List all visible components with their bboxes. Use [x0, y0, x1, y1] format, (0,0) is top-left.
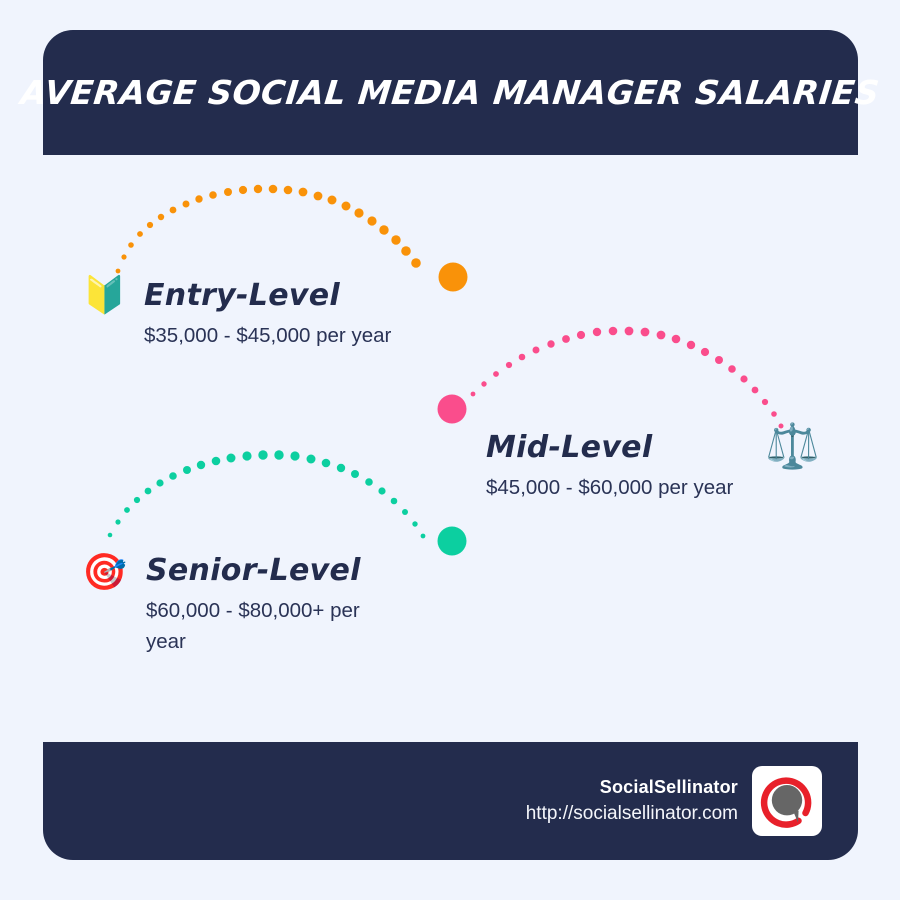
arc-endpoint-senior: [438, 527, 467, 556]
balance-scale-icon: ⚖️: [765, 425, 820, 469]
logo-mark-icon: [758, 772, 816, 830]
footer-bar: SocialSellinator http://socialsellinator…: [43, 742, 858, 860]
footer-text-block: SocialSellinator http://socialsellinator…: [526, 777, 738, 825]
arc-endpoint-mid: [438, 395, 467, 424]
level-senior: 🎯 Senior-Level $60,000 - $80,000+ per ye…: [146, 553, 396, 658]
socialsellinator-logo[interactable]: [752, 766, 822, 836]
level-senior-salary: $60,000 - $80,000+ per year: [146, 596, 396, 658]
level-mid: Mid-Level $45,000 - $60,000 per year: [486, 430, 733, 504]
dart-target-icon: 🎯: [82, 555, 127, 591]
level-mid-heading: Mid-Level: [486, 430, 733, 465]
infographic-canvas: Average Social Media Manager Salaries: [0, 0, 900, 900]
level-mid-title: Mid-Level: [486, 430, 652, 465]
footer-content: SocialSellinator http://socialsellinator…: [526, 742, 822, 860]
arc-entry-level: [116, 185, 468, 292]
website-url[interactable]: http://socialsellinator.com: [526, 803, 738, 825]
header-bar: Average Social Media Manager Salaries: [43, 30, 858, 155]
arc-mid-level: [438, 327, 784, 429]
level-senior-title: Senior-Level: [146, 553, 361, 588]
page-title: Average Social Media Manager Salaries: [19, 73, 881, 112]
level-entry-heading: 🔰 Entry-Level: [144, 278, 391, 313]
level-senior-heading: 🎯 Senior-Level: [146, 553, 396, 588]
brand-name: SocialSellinator: [526, 777, 738, 798]
level-entry: 🔰 Entry-Level $35,000 - $45,000 per year: [144, 278, 391, 352]
level-mid-salary: $45,000 - $60,000 per year: [486, 473, 733, 504]
level-entry-title: Entry-Level: [144, 278, 340, 313]
level-entry-salary: $35,000 - $45,000 per year: [144, 321, 391, 352]
beginner-badge-icon: 🔰: [82, 278, 127, 314]
arc-senior-level: [108, 450, 467, 555]
arc-endpoint-entry: [439, 263, 468, 292]
